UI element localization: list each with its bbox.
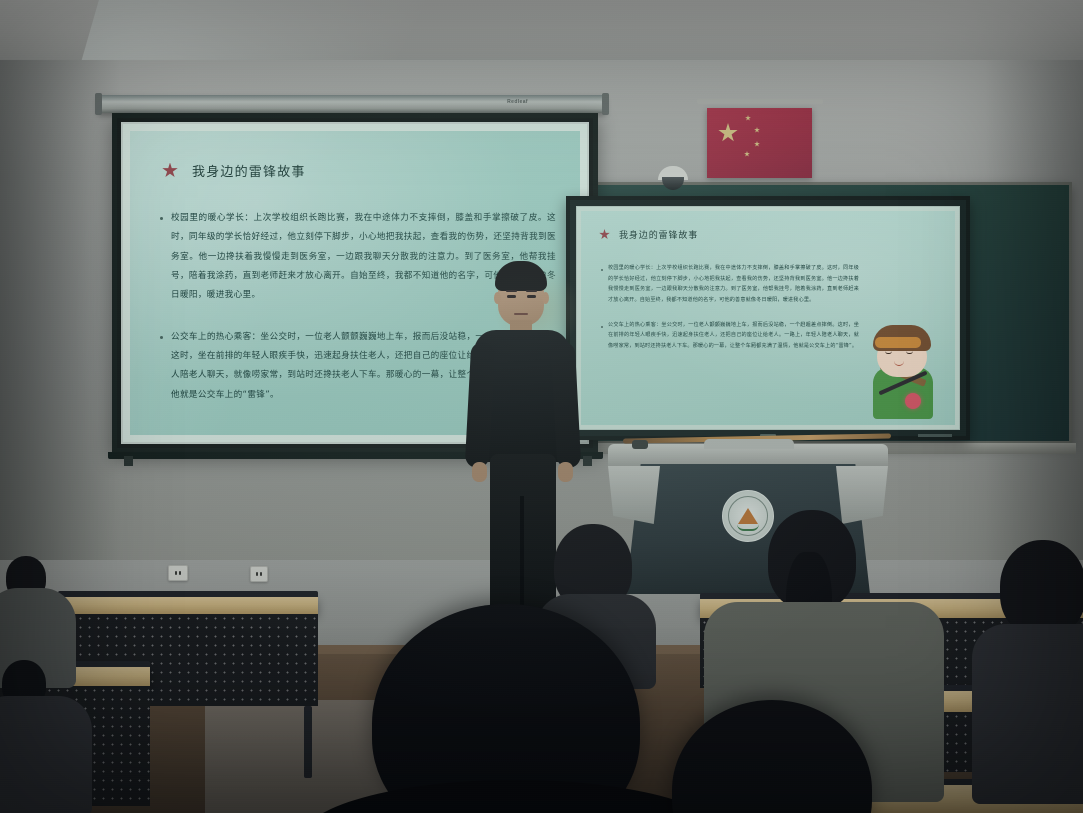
smartboard-slide-surface: 我身边的雷锋故事 校园里的暖心学长：上次学校组织长跑比赛，我在中途体力不支摔倒，… xyxy=(581,211,955,425)
outlet-holes xyxy=(172,569,184,577)
student-head xyxy=(1000,540,1083,636)
ceiling xyxy=(0,0,1083,62)
presenter-eyebrow xyxy=(506,290,517,292)
projector-screen-roller[interactable]: Redleaf xyxy=(98,95,606,113)
student-seated-far-right xyxy=(1000,540,1083,800)
wall-outlet-left[interactable] xyxy=(168,565,188,581)
china-national-flag xyxy=(707,108,812,178)
flag-star-small-icon xyxy=(754,141,760,147)
wall-switch-right[interactable] xyxy=(250,566,268,582)
lectern-top-notch xyxy=(704,439,794,449)
student-seated-left-front xyxy=(0,660,96,813)
flag-rail xyxy=(697,99,823,104)
roller-end-cap xyxy=(602,93,609,115)
presenter-hand xyxy=(472,462,487,482)
bullet-icon xyxy=(601,269,603,271)
smart-whiteboard[interactable]: 我身边的雷锋故事 校园里的暖心学长：上次学校组织长跑比赛，我在中途体力不支摔倒，… xyxy=(566,196,970,440)
presenter-ear xyxy=(542,292,549,304)
desk-row-back-left xyxy=(58,596,318,614)
smartboard-slide-title: 我身边的雷锋故事 xyxy=(619,228,698,241)
red-star-icon xyxy=(162,163,178,179)
cartoon-hat-band xyxy=(875,337,921,348)
smartboard-paragraph-text: 公交车上的热心乘客：坐公交时，一位老人颤颤巍巍地上车，报而后没站稳，一个趔趄差点… xyxy=(608,320,859,352)
presenter-eye xyxy=(507,295,516,298)
presenter-eyebrow xyxy=(526,290,537,292)
smartboard-title-row: 我身边的雷锋故事 xyxy=(599,228,698,241)
smartboard-paragraph-text: 校园里的暖心学长：上次学校组织长跑比赛，我在中途体力不支摔倒，膝盖和手掌擦破了皮… xyxy=(608,263,859,306)
slide-title: 我身边的雷锋故事 xyxy=(192,161,306,180)
lectern-wing-left xyxy=(608,466,660,524)
screen-hook xyxy=(124,456,133,466)
bullet-icon xyxy=(601,326,603,328)
projector-light-beam xyxy=(81,0,559,62)
desk-edge xyxy=(58,591,318,597)
smartboard-bezel: 我身边的雷锋故事 校园里的暖心学长：上次学校组织长跑比赛，我在中途体力不支摔倒，… xyxy=(576,206,960,430)
smartboard-paragraph: 校园里的暖心学长：上次学校组织长跑比赛，我在中途体力不支摔倒，膝盖和手掌擦破了皮… xyxy=(601,263,859,306)
classroom-photo: Redleaf 我身边的雷锋故事 校园里的暖心学长：上次学校组织长跑比赛，我在中… xyxy=(0,0,1083,813)
switch-mark xyxy=(256,572,258,576)
outlet-hole xyxy=(175,571,177,575)
lectern-knob[interactable] xyxy=(632,440,648,449)
flag-star-small-icon xyxy=(754,127,760,133)
cartoon-badge xyxy=(905,393,921,409)
roller-brand-label: Redleaf xyxy=(507,99,528,105)
presenter-mouth xyxy=(514,313,528,315)
smartboard-slide-body: 校园里的暖心学长：上次学校组织长跑比赛，我在中途体力不支摔倒，膝盖和手掌擦破了皮… xyxy=(601,263,859,366)
wall-shadow-left xyxy=(0,60,120,620)
bullet-icon xyxy=(160,217,163,220)
presenter-ear xyxy=(494,292,501,304)
presenter-hand xyxy=(558,462,573,482)
student-jacket xyxy=(972,624,1083,804)
dome-security-camera-icon xyxy=(658,166,688,192)
flag-star-large-icon xyxy=(718,123,738,143)
desk-leg xyxy=(304,706,312,778)
flag-star-small-icon xyxy=(744,151,750,157)
roller-end-cap xyxy=(95,93,102,115)
camera-lens xyxy=(662,177,684,190)
screen-hook xyxy=(583,456,592,466)
switch-marks xyxy=(254,570,264,578)
slide-title-row: 我身边的雷锋故事 xyxy=(162,161,306,180)
flag-star-small-icon xyxy=(745,115,751,121)
smartboard-ports xyxy=(918,434,952,437)
switch-mark xyxy=(260,572,262,576)
lei-feng-cartoon-icon xyxy=(861,323,945,419)
red-star-icon xyxy=(599,229,610,240)
smartboard-paragraph: 公交车上的热心乘客：坐公交时，一位老人颤颤巍巍地上车，报而后没站稳，一个趔趄差点… xyxy=(601,320,859,352)
outlet-hole xyxy=(179,571,181,575)
presenter-eye xyxy=(527,295,536,298)
presenter-leg-gap xyxy=(520,496,524,618)
student-jacket xyxy=(0,696,92,813)
bullet-icon xyxy=(160,336,163,339)
